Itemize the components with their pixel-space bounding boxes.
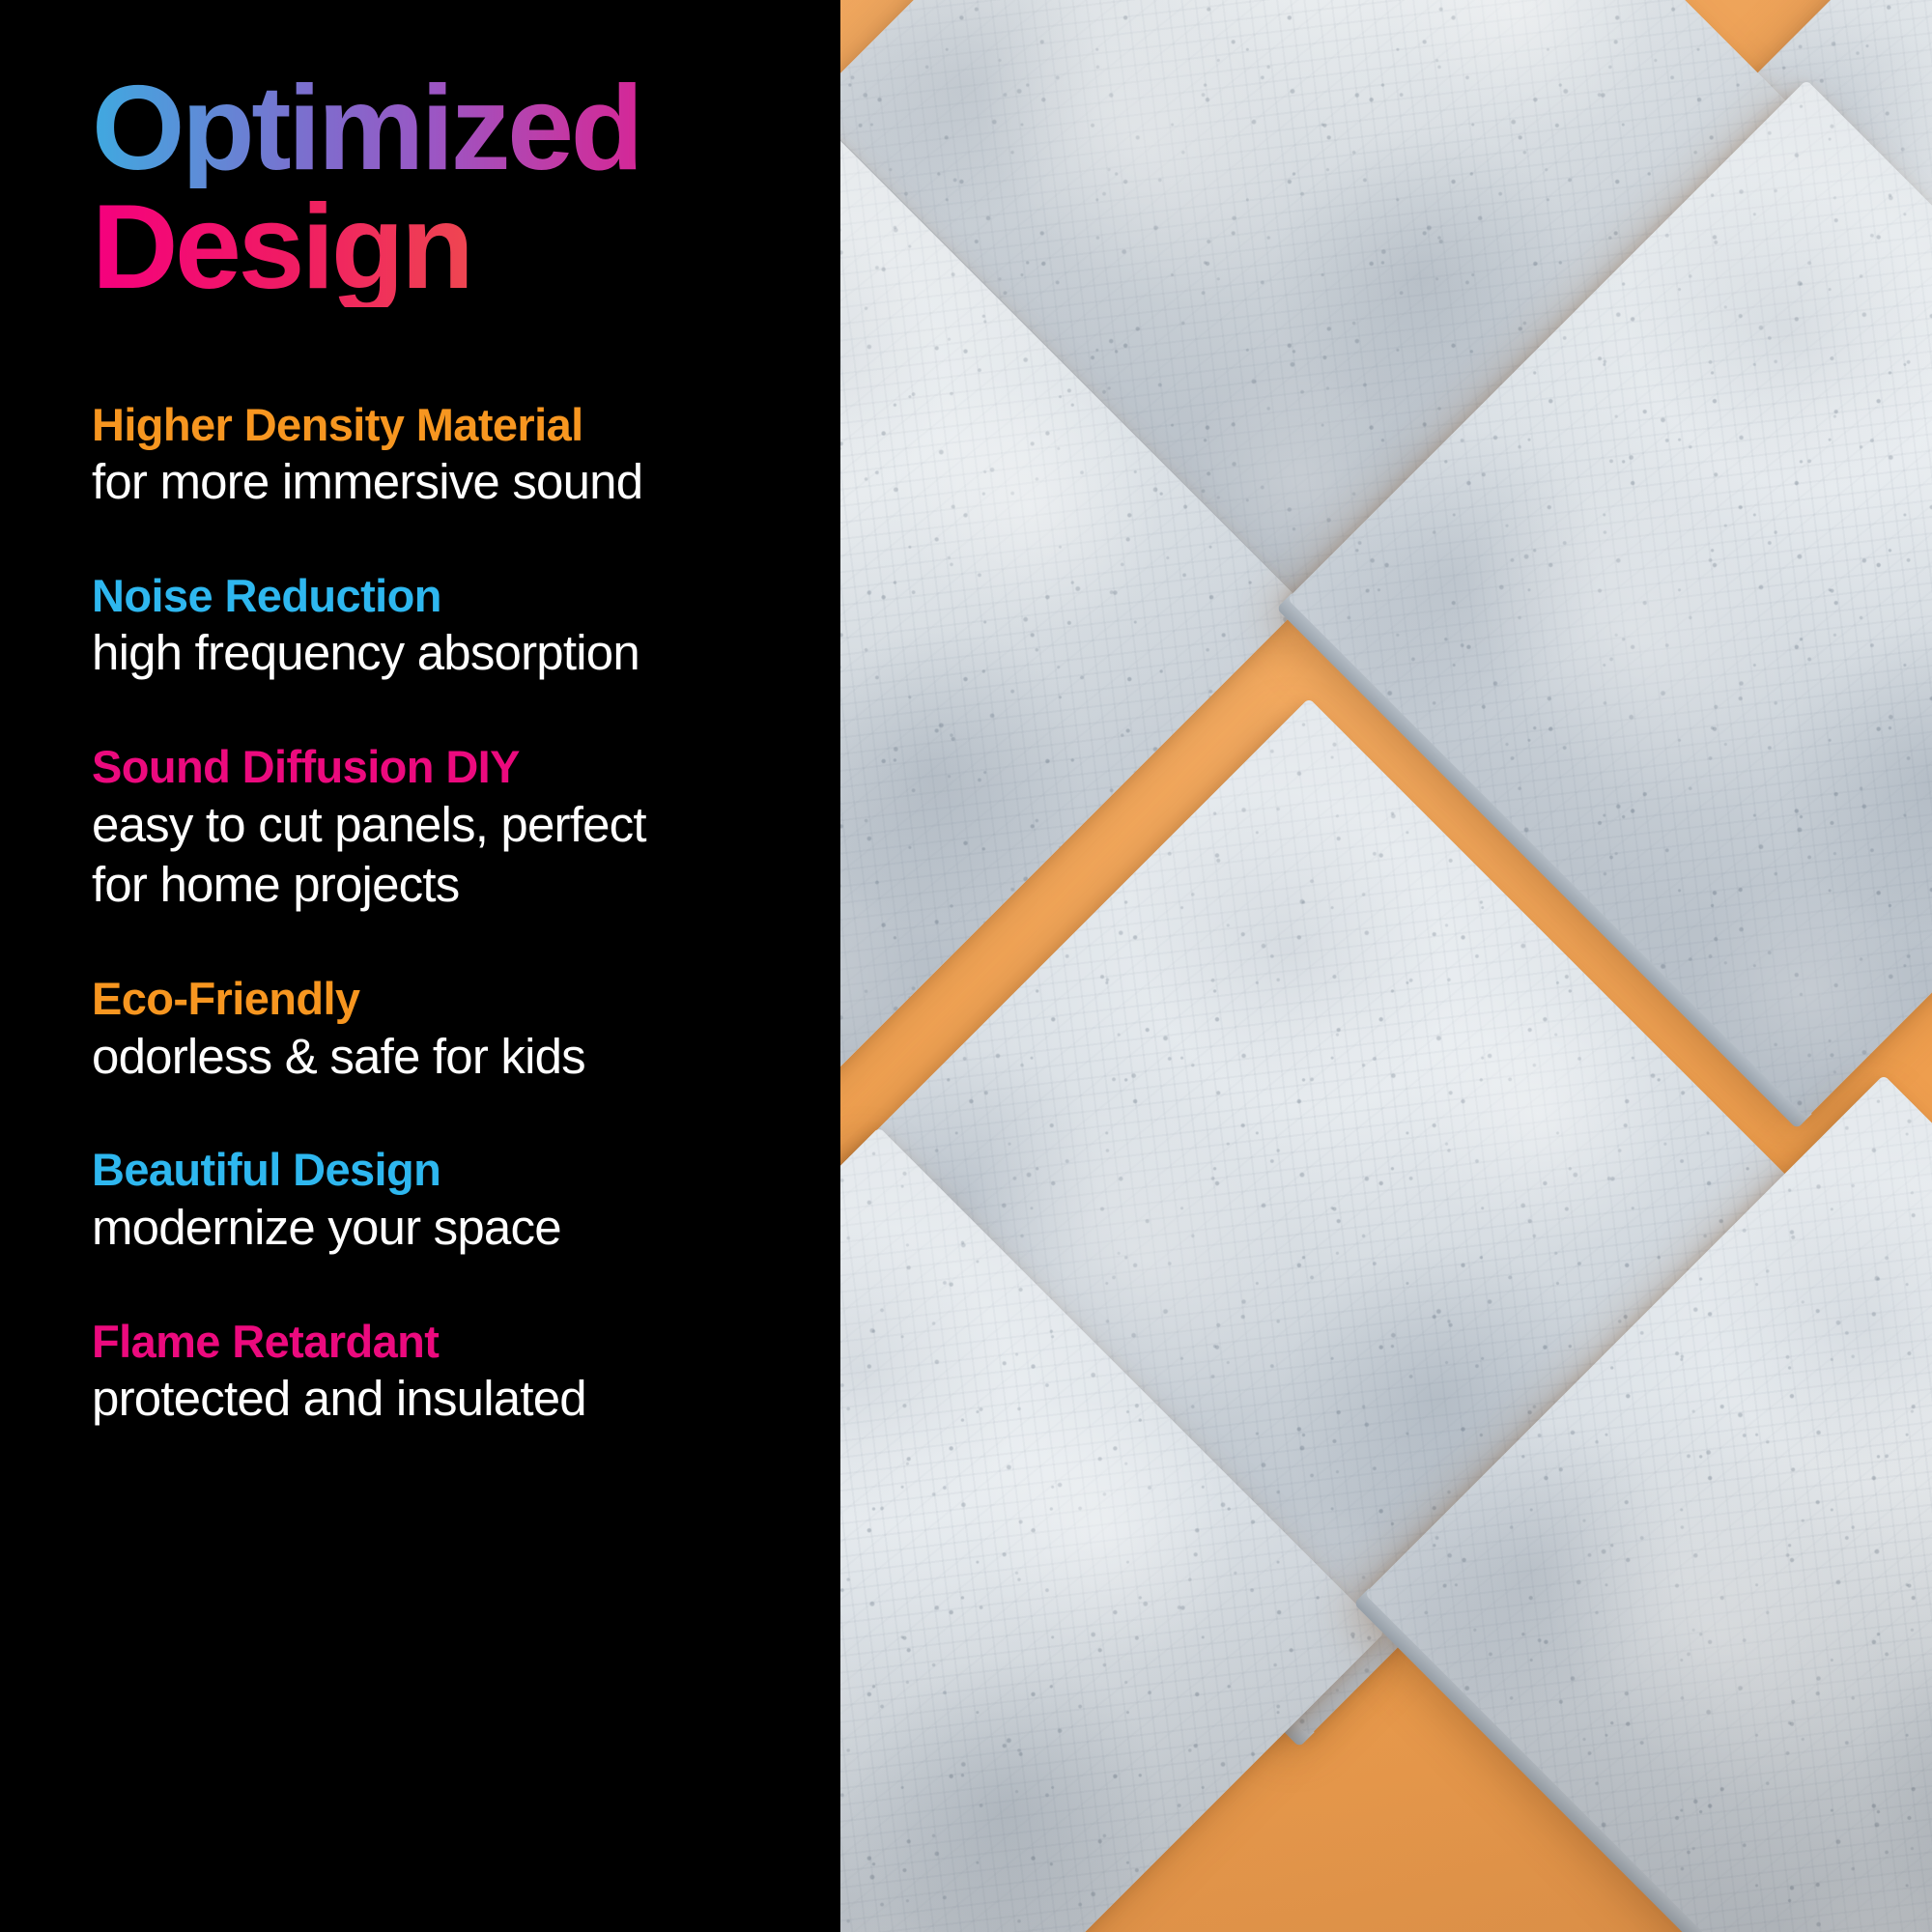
- headline-line-design: Design: [92, 188, 802, 307]
- product-photo: [840, 0, 1932, 1932]
- headline-line-optimized: Optimized: [92, 70, 802, 188]
- feature-title: Noise Reduction: [92, 571, 802, 622]
- feature-description: modernize your space: [92, 1199, 802, 1257]
- feature-description: odorless & safe for kids: [92, 1028, 802, 1086]
- feature-text-panel: Optimized Design Higher Density Material…: [0, 0, 840, 1932]
- feature-description: for more immersive sound: [92, 453, 802, 511]
- feature-item-higher-density-material: Higher Density Material for more immersi…: [92, 400, 802, 511]
- feature-description: high frequency absorption: [92, 624, 802, 682]
- feature-title: Higher Density Material: [92, 400, 802, 451]
- feature-list: Higher Density Material for more immersi…: [92, 400, 802, 1428]
- feature-item-flame-retardant: Flame Retardant protected and insulated: [92, 1317, 802, 1428]
- feature-item-beautiful-design: Beautiful Design modernize your space: [92, 1145, 802, 1256]
- feature-description-line-1: easy to cut panels, perfect: [92, 796, 802, 854]
- feature-description-line-2: for home projects: [92, 856, 802, 914]
- feature-title: Sound Diffusion DIY: [92, 742, 802, 793]
- feature-description: protected and insulated: [92, 1370, 802, 1428]
- feature-item-noise-reduction: Noise Reduction high frequency absorptio…: [92, 571, 802, 682]
- feature-title: Flame Retardant: [92, 1317, 802, 1368]
- page-title: Optimized Design: [92, 70, 802, 307]
- feature-item-sound-diffusion-diy: Sound Diffusion DIY easy to cut panels, …: [92, 742, 802, 914]
- feature-title: Eco-Friendly: [92, 974, 802, 1025]
- feature-title: Beautiful Design: [92, 1145, 802, 1196]
- feature-item-eco-friendly: Eco-Friendly odorless & safe for kids: [92, 974, 802, 1085]
- infographic-poster: Optimized Design Higher Density Material…: [0, 0, 1932, 1932]
